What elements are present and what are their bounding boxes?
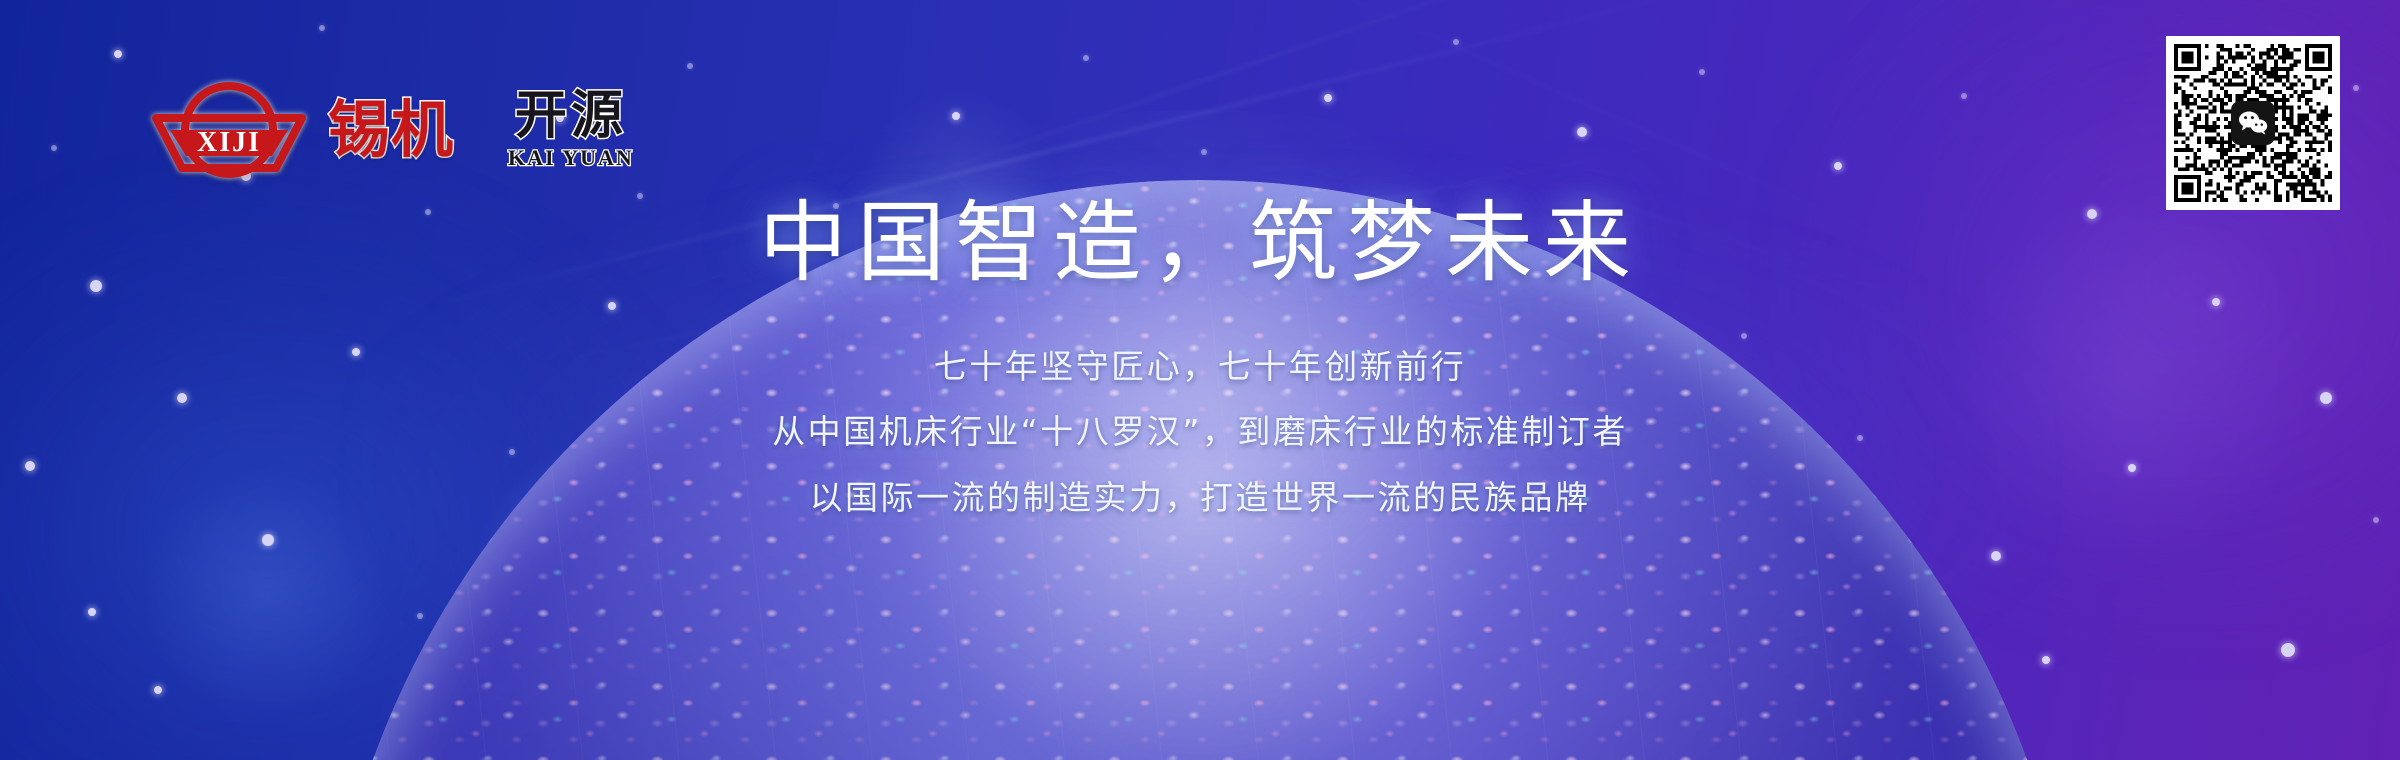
kaiyuan-name-cn: 开源 <box>515 89 627 144</box>
particle <box>1201 149 1207 155</box>
particle <box>1699 69 1705 75</box>
particle <box>1577 127 1587 137</box>
subline-2: 从中国机床行业“十八罗汉”，到磨床行业的标准制订者 <box>772 412 1628 452</box>
particle <box>114 50 122 58</box>
particle <box>1324 94 1332 102</box>
subline-3: 以国际一流的制造实力，打造世界一流的民族品牌 <box>810 478 1591 518</box>
particle <box>262 534 274 546</box>
particle <box>687 63 693 69</box>
svg-text:XIJI: XIJI <box>197 127 261 158</box>
particle <box>2353 85 2359 91</box>
copy-block: 中国智造，筑梦未来 七十年坚守匠心，七十年创新前行从中国机床行业“十八罗汉”，到… <box>0 196 2400 517</box>
brand-logo[interactable]: XIJI 锡机 开源 KAI YUAN <box>150 78 634 182</box>
particle <box>88 608 96 616</box>
subline-1: 七十年坚守匠心，七十年创新前行 <box>934 347 1467 387</box>
particle <box>1991 551 2001 561</box>
kaiyuan-lockup: 开源 KAI YUAN <box>508 89 634 172</box>
promo-banner: XIJI 锡机 开源 KAI YUAN <box>0 0 2400 760</box>
particle <box>51 145 57 151</box>
headline: 中国智造，筑梦未来 <box>0 196 2400 295</box>
wechat-icon <box>2231 101 2275 145</box>
subline-list: 七十年坚守匠心，七十年创新前行从中国机床行业“十八罗汉”，到磨床行业的标准制订者… <box>0 347 2400 518</box>
particle <box>952 112 960 120</box>
brand-name-cn: 锡机 <box>328 99 454 161</box>
wechat-qr-code[interactable] <box>2166 36 2340 210</box>
particle <box>2373 517 2379 523</box>
xiji-emblem-icon: XIJI <box>150 78 308 182</box>
particle <box>1453 39 1459 45</box>
particle <box>2042 656 2050 664</box>
particle <box>1834 162 1842 170</box>
particle <box>2281 643 2295 657</box>
particle <box>1083 55 1089 61</box>
particle <box>154 686 162 694</box>
particle <box>1961 93 1967 99</box>
kaiyuan-name-en: KAI YUAN <box>508 145 634 171</box>
particle <box>319 25 325 31</box>
qr-inner <box>2174 44 2332 202</box>
